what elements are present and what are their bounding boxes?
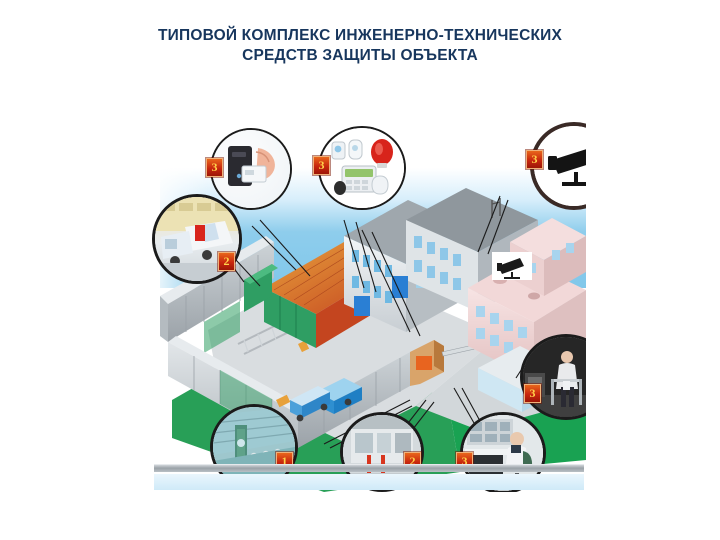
callout-turnstile-guard[interactable] bbox=[520, 334, 586, 420]
badge-cctv-camera: 3 bbox=[526, 150, 543, 169]
page-title-line-2: СРЕДСТВ ЗАЩИТЫ ОБЪЕКТА bbox=[60, 46, 660, 66]
badge-access-card-reader: 3 bbox=[206, 158, 223, 177]
cctv-camera-pictogram bbox=[492, 252, 532, 280]
callout-alarm-panel[interactable] bbox=[318, 126, 406, 210]
image-bottom-strip bbox=[154, 474, 584, 490]
slide-canvas: ТИПОВОЙ КОМПЛЕКС ИНЖЕНЕРНО-ТЕХНИЧЕСКИХ С… bbox=[0, 0, 720, 540]
image-bottom-rule bbox=[154, 464, 584, 472]
facility-diagram-image: 3 bbox=[148, 100, 586, 492]
badge-alarm-panel: 3 bbox=[313, 156, 330, 175]
badge-turnstile-guard: 3 bbox=[524, 384, 541, 403]
page-title-line-1: ТИПОВОЙ КОМПЛЕКС ИНЖЕНЕРНО-ТЕХНИЧЕСКИХ bbox=[60, 26, 660, 46]
page-title: ТИПОВОЙ КОМПЛЕКС ИНЖЕНЕРНО-ТЕХНИЧЕСКИХ С… bbox=[60, 26, 660, 66]
badge-vehicle-checkpoint: 2 bbox=[218, 252, 235, 271]
